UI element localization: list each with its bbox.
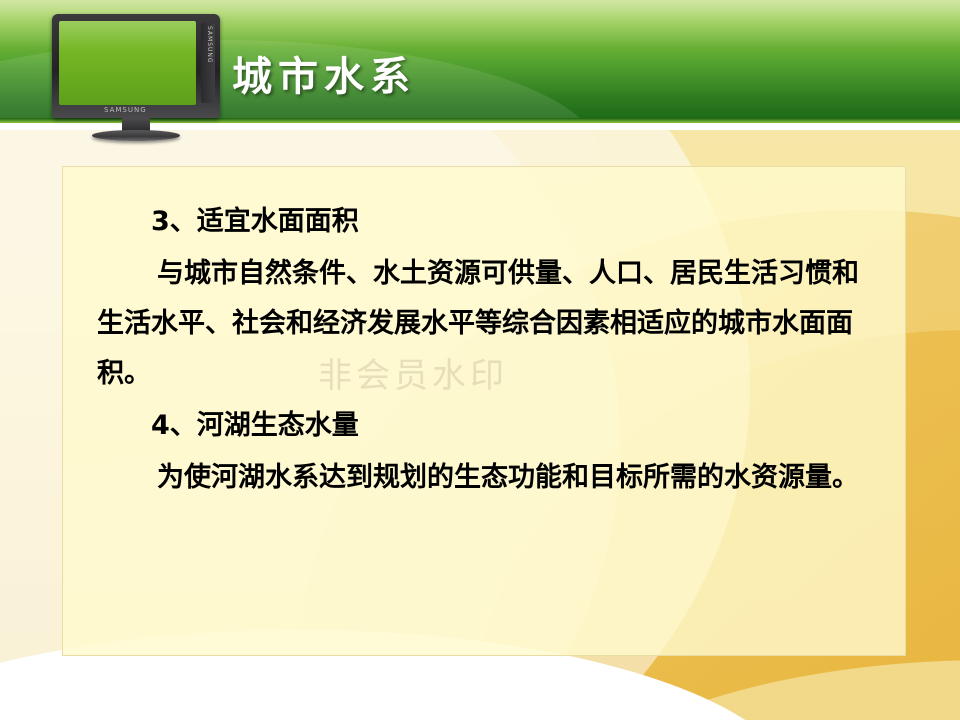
paragraph-item-3-body: 与城市自然条件、水土资源可供量、人口、居民生活习惯和生活水平、社会和经济发展水平…	[97, 249, 873, 399]
paragraph-item-4-body: 为使河湖水系达到规划的生态功能和目标所需的水资源量。	[97, 453, 873, 503]
monitor-brand-label: SAMSUNG	[104, 106, 147, 114]
paragraph-item-4-heading: 4、河湖生态水量	[97, 401, 873, 451]
paragraph-item-3-heading: 3、适宜水面面积	[97, 197, 873, 247]
monitor-screen-gloss	[59, 21, 196, 51]
monitor-side-label: SAMSUNG	[203, 26, 213, 64]
content-panel: 3、适宜水面面积 与城市自然条件、水土资源可供量、人口、居民生活习惯和生活水平、…	[62, 166, 906, 656]
page-title: 城市水系	[232, 44, 416, 102]
slide: SAMSUNG SAMSUNG 城市水系 3、适宜水面面积 与城市自然条件、水土…	[0, 0, 960, 720]
content-text-block: 3、适宜水面面积 与城市自然条件、水土资源可供量、人口、居民生活习惯和生活水平、…	[63, 167, 907, 505]
monitor-icon: SAMSUNG SAMSUNG	[52, 14, 220, 140]
monitor-base	[92, 130, 180, 141]
